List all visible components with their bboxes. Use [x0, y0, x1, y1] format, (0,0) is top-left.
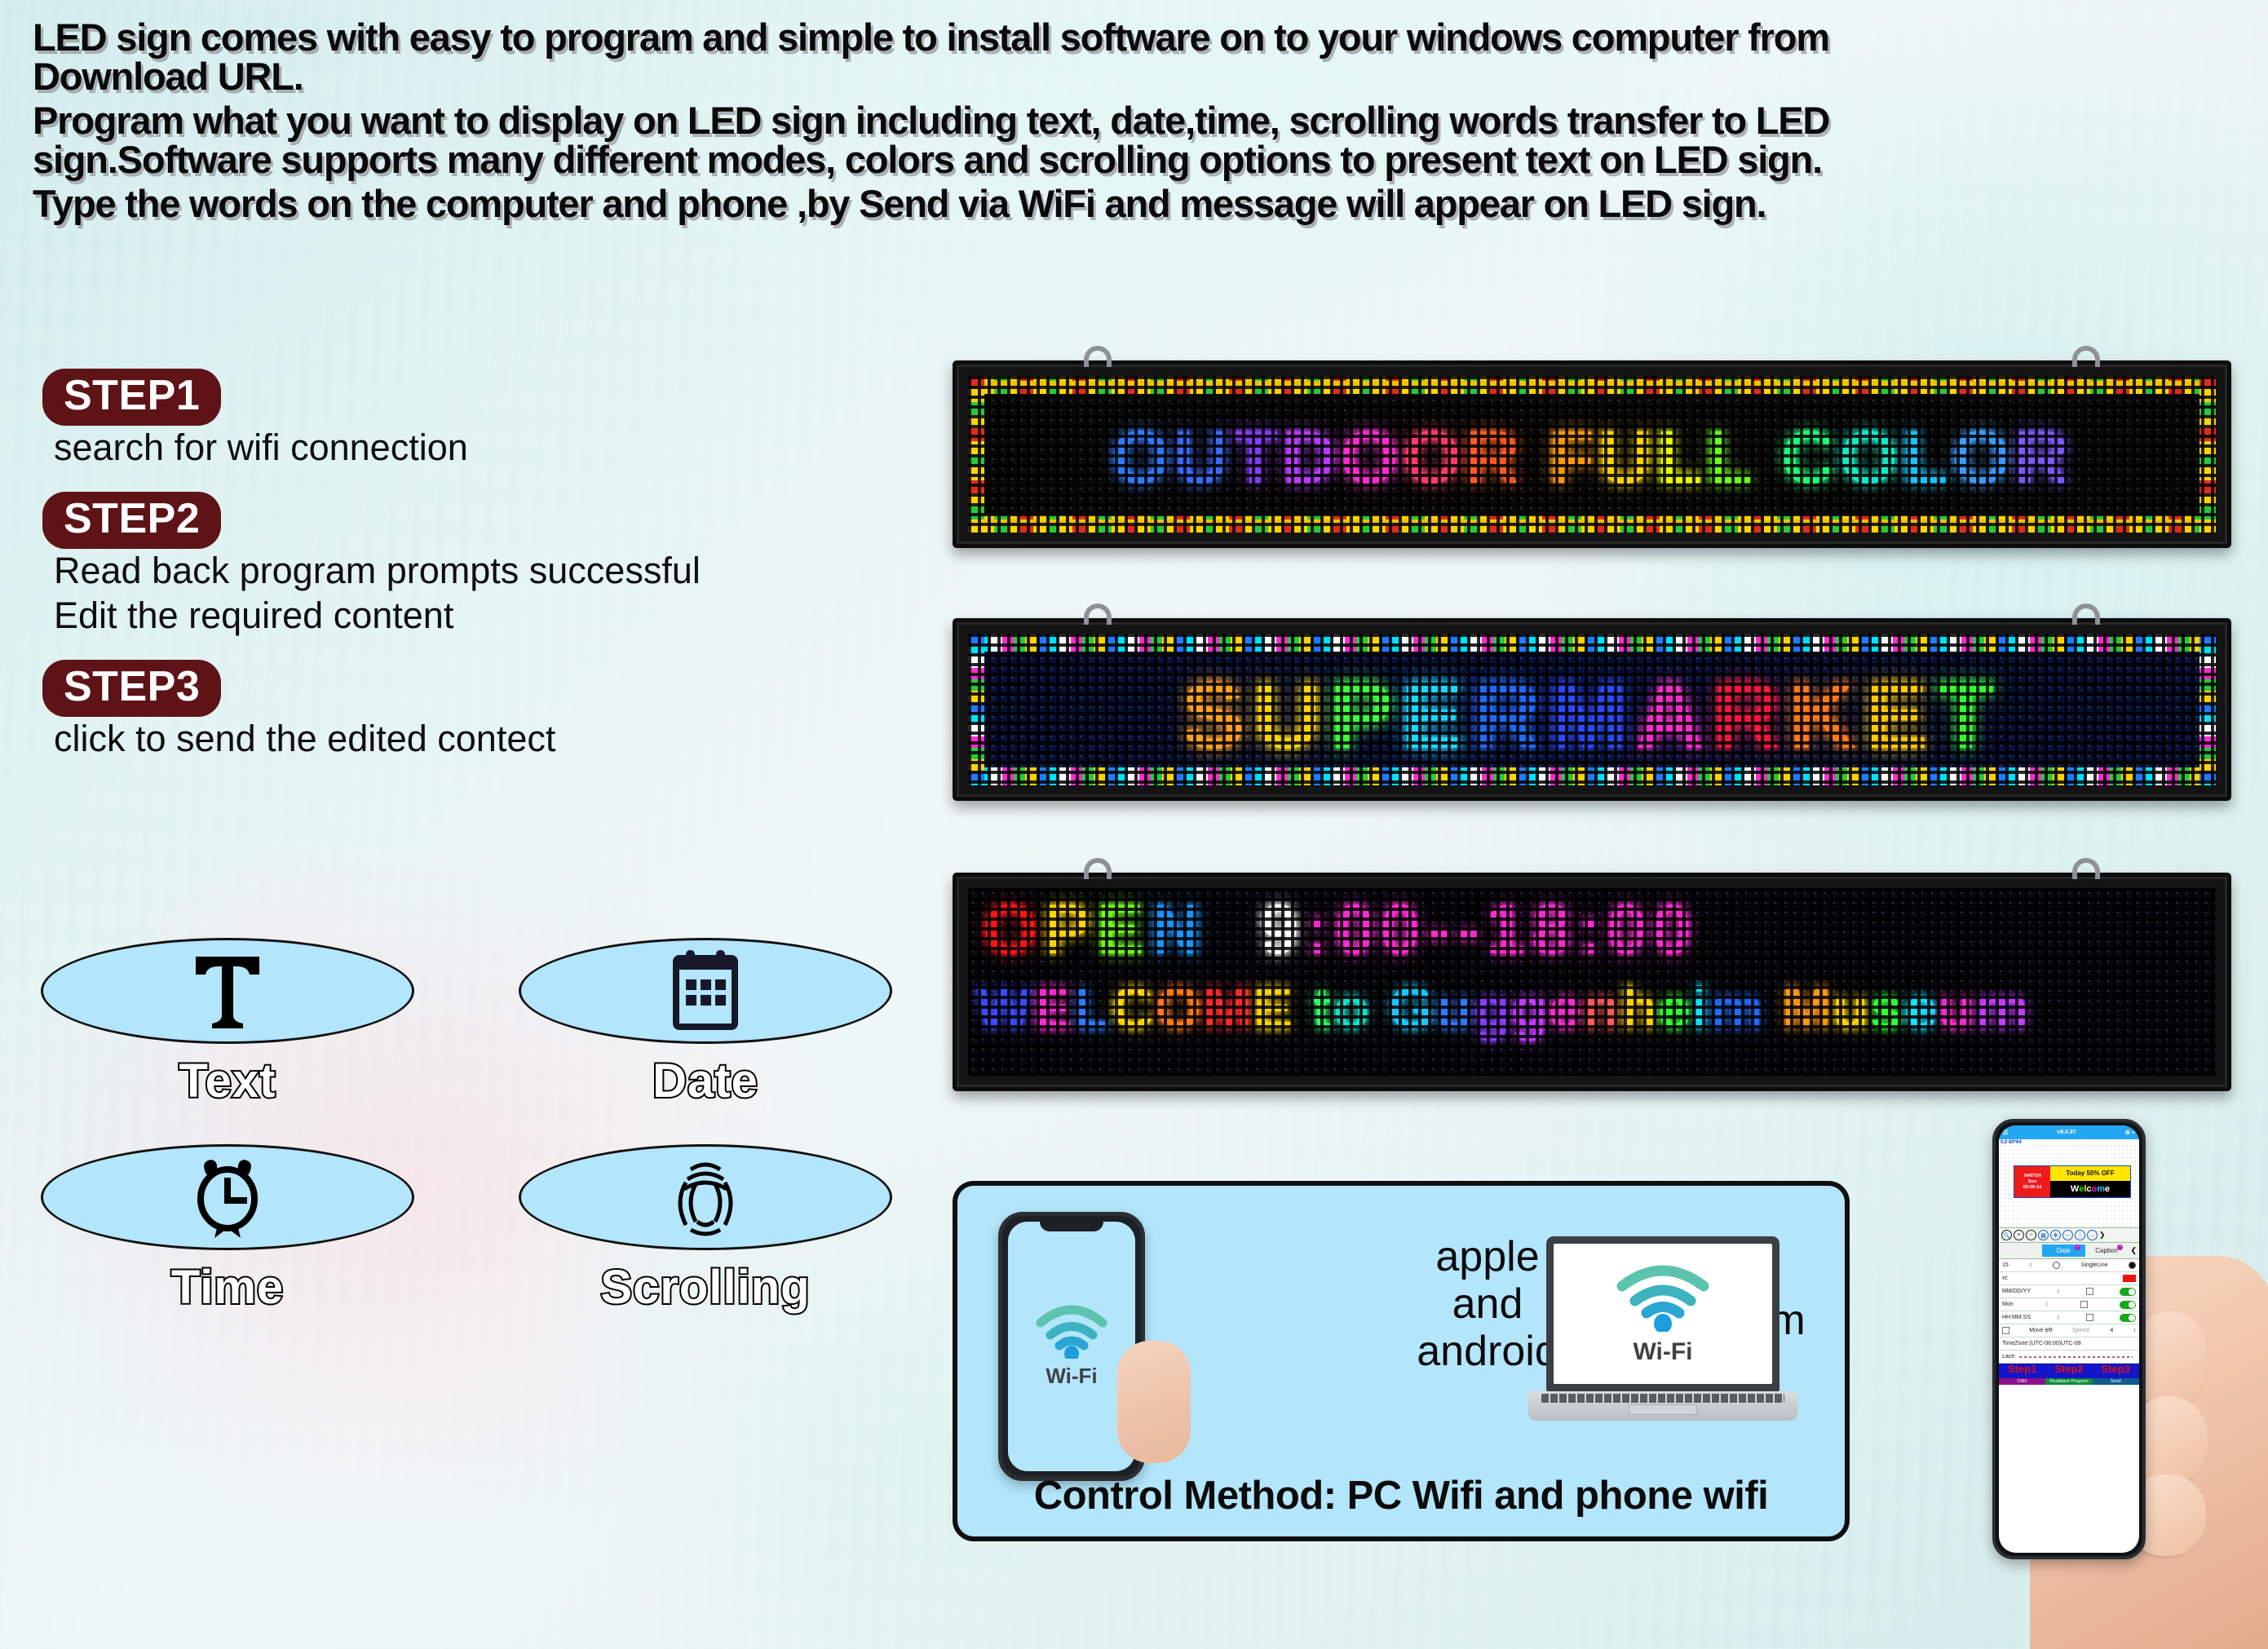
- led-sign-outdoor-full-color: OUTDOOR FULL COLOR: [953, 360, 2231, 548]
- gear-icon[interactable]: ⚙: [2125, 1130, 2130, 1136]
- laptop-wifi-label: Wi-Fi: [1633, 1338, 1692, 1366]
- sign1-text: OUTDOOR FULL COLOR: [1112, 420, 2073, 495]
- zoom-reset-icon[interactable]: −: [2026, 1230, 2036, 1240]
- step-3: STEP3 click to send the edited contect: [42, 660, 923, 762]
- control-panel-laptop: Wi-Fi: [1528, 1236, 1797, 1440]
- app-toolbar: 🔍 + − ▦ ✥ ⋯ ⋮ … ❯: [1999, 1227, 2139, 1243]
- sign2-hook-left: [1084, 603, 1112, 625]
- step-1-text: search for wifi connection: [54, 426, 923, 471]
- align-h-icon[interactable]: ⋯: [2062, 1230, 2073, 1240]
- feature-date[interactable]: Date: [519, 938, 892, 1108]
- feature-icons-grid: Text Date: [41, 938, 930, 1351]
- sign2-border-bottom: [968, 767, 2216, 785]
- preview-right-block: Today 50% OFF Welcome: [2050, 1166, 2130, 1197]
- feature-time[interactable]: Time: [41, 1144, 414, 1315]
- step-1: STEP1 search for wifi connection: [42, 369, 923, 471]
- calendar-icon: [668, 950, 743, 1032]
- zoom-in-icon[interactable]: +: [2014, 1230, 2024, 1240]
- app-step1-button[interactable]: Step1 CMX: [1999, 1364, 2045, 1385]
- app-step3-sub: Send: [2093, 1378, 2139, 1385]
- singleline-radio[interactable]: [2053, 1262, 2060, 1269]
- preview-date-block: 34/07/24 Sun 00:06:14: [2014, 1166, 2050, 1197]
- led-sign-open-hours: OPEN 9:00--18:00 WELCOME to Guggenheim M…: [953, 873, 2231, 1091]
- row-lace[interactable]: Lace:: [1999, 1351, 2139, 1364]
- text-icon: [191, 950, 264, 1032]
- row-font-size[interactable]: 15 ↕ SingleLine: [1999, 1259, 2139, 1272]
- app-step3-title: Step3: [2093, 1364, 2139, 1378]
- sign2-border-top: [968, 634, 2216, 652]
- sign2-panel: SUPERMARKET: [968, 634, 2216, 785]
- tab-date-label: Date: [2057, 1247, 2071, 1254]
- feature-time-label: Time: [41, 1260, 414, 1315]
- weekday-checkbox[interactable]: [2080, 1301, 2088, 1308]
- preview-time: 00:06:14: [2023, 1185, 2041, 1190]
- align-v-icon[interactable]: ⋮: [2075, 1230, 2085, 1240]
- laptop-trackpad: [1629, 1404, 1697, 1415]
- zoom-out-icon[interactable]: 🔍: [2001, 1230, 2012, 1240]
- tab-spacer: [1999, 1249, 2042, 1253]
- app-phone: ☰ v8.0.97 ⚙ + 0,0 80*64 34/07/24 Sun 00:…: [1992, 1119, 2146, 1559]
- steps-list: STEP1 search for wifi connection STEP2 R…: [42, 369, 923, 762]
- feature-scrolling[interactable]: Scrolling: [519, 1144, 892, 1315]
- app-screen: ☰ v8.0.97 ⚙ + 0,0 80*64 34/07/24 Sun 00:…: [1999, 1125, 2139, 1553]
- row-text-color[interactable]: xt:: [1999, 1272, 2139, 1285]
- alarm-clock-icon: [188, 1156, 267, 1238]
- font-size-stepper-icon[interactable]: ↕: [2029, 1262, 2032, 1268]
- control-method-caption: Control Method: PC Wifi and phone wifi: [957, 1473, 1845, 1519]
- time-format-checkbox[interactable]: [2086, 1314, 2093, 1321]
- feature-time-oval[interactable]: [41, 1144, 414, 1250]
- phone-notch: [1040, 1219, 1103, 1231]
- time-format-toggle[interactable]: [2120, 1314, 2136, 1322]
- app-top-bar: ☰ v8.0.97 ⚙ +: [1999, 1125, 2139, 1139]
- tab-caption-remove-icon[interactable]: −: [2117, 1244, 2123, 1250]
- step-2-text-line-2: Edit the required content: [54, 594, 923, 639]
- wifi-icon-laptop: [1614, 1262, 1712, 1333]
- step-3-badge: STEP3: [42, 660, 221, 717]
- sign3-panel: OPEN 9:00--18:00 WELCOME to Guggenheim M…: [968, 888, 2216, 1076]
- chevron-right-icon[interactable]: ❯: [2099, 1231, 2106, 1240]
- app-step-buttons: Step1 CMX Step2 Readback Program Step3 S…: [1999, 1364, 2139, 1385]
- date-format-checkbox[interactable]: [2086, 1288, 2093, 1295]
- app-bar-right: ⚙ +: [2125, 1130, 2135, 1136]
- sign3-hook-right: [2072, 858, 2100, 879]
- app-step2-sub: Readback Program: [2045, 1378, 2092, 1385]
- phone-screen: Wi-Fi: [1008, 1222, 1135, 1471]
- feature-scrolling-oval[interactable]: [519, 1144, 892, 1250]
- lace-slider[interactable]: [2019, 1356, 2133, 1358]
- timezone-value: TimeZone:(UTC-08:00)UTC-08: [2002, 1341, 2081, 1346]
- date-format-value: MM/DD/YY: [2002, 1289, 2031, 1294]
- sign3-line-1: OPEN 9:00--18:00: [983, 895, 1698, 965]
- sign1-panel: OUTDOOR FULL COLOR: [968, 376, 2216, 533]
- laptop-screen: Wi-Fi: [1554, 1244, 1772, 1384]
- speed-stepper-icon[interactable]: ↕: [2133, 1328, 2137, 1333]
- tab-date[interactable]: Date −: [2042, 1244, 2085, 1257]
- sign1-border-bottom: [968, 515, 2216, 533]
- app-version-label: v8.0.97: [2057, 1130, 2076, 1135]
- laptop-keyboard: [1541, 1394, 1784, 1403]
- text-color-label: xt:: [2002, 1275, 2008, 1281]
- multiline-radio[interactable]: [2129, 1262, 2136, 1269]
- intro-line-1: LED sign comes with easy to program and …: [33, 18, 1908, 96]
- control-panel-thumb: [1117, 1341, 1191, 1463]
- control-method-panel: Wi-Fi apple and android PC Program: [953, 1181, 1850, 1541]
- preview-banner-text: Today 50% OFF: [2050, 1166, 2130, 1181]
- step-2: STEP2 Read back program prompts successf…: [42, 492, 923, 639]
- sign3-hook-left: [1084, 858, 1112, 879]
- intro-paragraph: LED sign comes with easy to program and …: [33, 18, 1908, 223]
- time-format-stepper-icon[interactable]: ↕: [2057, 1315, 2060, 1320]
- singleline-label: SingleLine: [2081, 1262, 2108, 1268]
- hamburger-icon[interactable]: ☰: [2003, 1130, 2008, 1136]
- step-3-text: click to send the edited contect: [54, 717, 923, 762]
- text-color-chip[interactable]: [2123, 1275, 2136, 1282]
- app-step1-title: Step1: [1999, 1364, 2045, 1378]
- feature-row-2: Time Scrollin: [41, 1144, 930, 1315]
- led-sign-supermarket: SUPERMARKET: [953, 618, 2231, 801]
- sign1-border-top: [968, 376, 2216, 394]
- hand-holding-phone: ☰ v8.0.97 ⚙ + 0,0 80*64 34/07/24 Sun 00:…: [1970, 1119, 2268, 1649]
- sign1-hook-left: [1084, 346, 1112, 367]
- row-move-left[interactable]: Move left Speed: 4 ↕: [1999, 1324, 2139, 1337]
- app-step2-button[interactable]: Step2 Readback Program: [2045, 1364, 2092, 1385]
- app-canvas[interactable]: 0,0 80*64 34/07/24 Sun 00:06:14 Today 50…: [1999, 1139, 2139, 1227]
- feature-text[interactable]: Text: [41, 938, 414, 1108]
- sign3-line-2: WELCOME to Guggenheim Museum: [976, 979, 2030, 1038]
- step-1-badge: STEP1: [42, 369, 221, 426]
- row-weekday[interactable]: Mon ↕: [1999, 1298, 2139, 1311]
- tab-caption-label: Caption: [2095, 1247, 2118, 1254]
- date-format-toggle[interactable]: [2120, 1288, 2136, 1296]
- intro-line-3: Type the words on the computer and phone…: [33, 184, 1908, 223]
- row-time-format[interactable]: HH:MM:SS ↕: [1999, 1311, 2139, 1324]
- move-left-checkbox[interactable]: [2002, 1327, 2009, 1334]
- scrolling-icon: [666, 1155, 745, 1240]
- app-step2-title: Step2: [2045, 1364, 2092, 1378]
- more-icon[interactable]: …: [2087, 1230, 2098, 1240]
- step-2-text-line-1: Read back program prompts successful: [54, 549, 923, 594]
- row-date-format[interactable]: MM/DD/YY ↕: [1999, 1285, 2139, 1298]
- sign2-hook-right: [2072, 603, 2100, 625]
- preview-welcome-text: Welcome: [2050, 1181, 2130, 1197]
- tab-caption[interactable]: Caption −: [2085, 1244, 2129, 1257]
- font-size-value: 15: [2002, 1262, 2009, 1268]
- time-format-value: HH:MM:SS: [2002, 1315, 2031, 1320]
- chevron-left-icon[interactable]: ❮: [2128, 1246, 2139, 1255]
- feature-row-1: Text Date: [41, 938, 930, 1108]
- weekday-value: Mon: [2002, 1302, 2014, 1307]
- weekday-toggle[interactable]: [2120, 1301, 2136, 1309]
- speed-label: Speed:: [2072, 1328, 2090, 1333]
- feature-scrolling-label: Scrolling: [519, 1260, 892, 1315]
- app-step1-sub: CMX: [1999, 1378, 2045, 1385]
- app-step3-button[interactable]: Step3 Send: [2093, 1364, 2139, 1385]
- grid-icon[interactable]: ▦: [2038, 1230, 2049, 1240]
- fit-icon[interactable]: ✥: [2050, 1230, 2061, 1240]
- sign-preview[interactable]: 34/07/24 Sun 00:06:14 Today 50% OFF Welc…: [2014, 1165, 2131, 1198]
- tab-date-remove-icon[interactable]: −: [2075, 1244, 2080, 1250]
- plus-icon[interactable]: +: [2132, 1130, 2135, 1136]
- feature-text-oval[interactable]: [41, 938, 414, 1044]
- sign1-hook-right: [2072, 346, 2100, 367]
- sign2-text: SUPERMARKET: [1182, 668, 2002, 763]
- move-left-label: Move left: [2029, 1328, 2052, 1333]
- date-format-stepper-icon[interactable]: ↕: [2057, 1289, 2060, 1294]
- canvas-coord-label: 0,0 80*64: [2001, 1140, 2022, 1145]
- wifi-icon-phone: [1034, 1305, 1109, 1359]
- preview-weekday: Sun: [2028, 1179, 2037, 1184]
- laptop-base: [1528, 1391, 1797, 1421]
- app-tab-row: Date − Caption − ❮: [1999, 1243, 2139, 1259]
- weekday-stepper-icon[interactable]: ↕: [2045, 1302, 2049, 1307]
- feature-date-label: Date: [519, 1054, 892, 1108]
- feature-date-oval[interactable]: [519, 938, 892, 1044]
- preview-date: 34/07/24: [2023, 1174, 2041, 1178]
- feature-text-label: Text: [41, 1054, 414, 1108]
- speed-value: 4: [2110, 1328, 2113, 1333]
- lace-label: Lace:: [2002, 1354, 2016, 1359]
- intro-line-2: Program what you want to display on LED …: [33, 101, 1908, 179]
- row-timezone[interactable]: TimeZone:(UTC-08:00)UTC-08: [1999, 1337, 2139, 1351]
- step-2-badge: STEP2: [42, 492, 221, 549]
- laptop-lid: Wi-Fi: [1546, 1236, 1779, 1391]
- phone-wifi-label: Wi-Fi: [1046, 1364, 1097, 1389]
